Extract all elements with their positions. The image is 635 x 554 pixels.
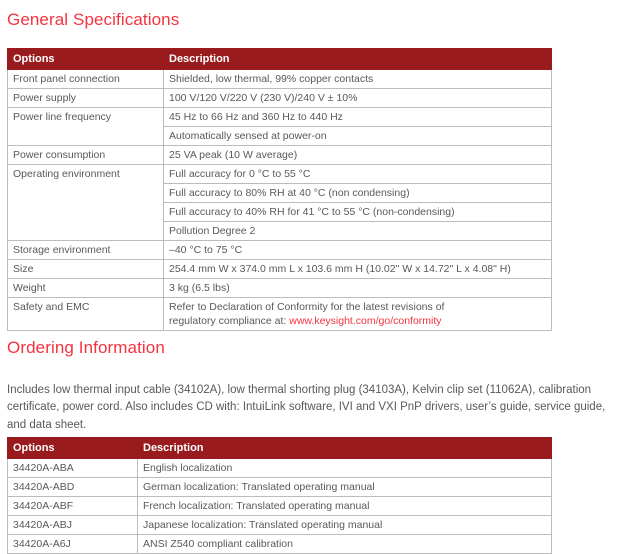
- table-header-row: Options Description: [8, 49, 552, 70]
- table-row: 34420A-ABJ Japanese localization: Transl…: [8, 516, 552, 535]
- column-header-options: Options: [8, 438, 138, 459]
- general-specifications-table: Options Description Front panel connecti…: [7, 48, 552, 331]
- cell-description: Pollution Degree 2: [164, 222, 552, 241]
- cell-description: 100 V/120 V/220 V (230 V)/240 V ± 10%: [164, 89, 552, 108]
- cell-option: Weight: [8, 279, 164, 298]
- cell-description: Full accuracy for 0 °C to 55 °C: [164, 165, 552, 184]
- table-row: 34420A-ABD German localization: Translat…: [8, 478, 552, 497]
- table-header: Options Description: [8, 49, 552, 70]
- ordering-information-paragraph: Includes low thermal input cable (34102A…: [7, 382, 622, 435]
- table-row: Safety and EMC Refer to Declaration of C…: [8, 298, 552, 331]
- table-row: Front panel connection Shielded, low the…: [8, 70, 552, 89]
- table-row: Storage environment –40 °C to 75 °C: [8, 241, 552, 260]
- cell-description: French localization: Translated operatin…: [138, 497, 552, 516]
- cell-option: Safety and EMC: [8, 298, 164, 331]
- table-row: Power consumption 25 VA peak (10 W avera…: [8, 146, 552, 165]
- cell-description: Automatically sensed at power-on: [164, 127, 552, 146]
- cell-description: Full accuracy to 40% RH for 41 °C to 55 …: [164, 203, 552, 222]
- cell-option: 34420A-ABA: [8, 459, 138, 478]
- cell-description: Full accuracy to 80% RH at 40 °C (non co…: [164, 184, 552, 203]
- cell-option: Front panel connection: [8, 70, 164, 89]
- conformity-line-1: Refer to Declaration of Conformity for t…: [169, 301, 444, 313]
- table-row: Power supply 100 V/120 V/220 V (230 V)/2…: [8, 89, 552, 108]
- cell-description: 3 kg (6.5 lbs): [164, 279, 552, 298]
- cell-description: Japanese localization: Translated operat…: [138, 516, 552, 535]
- conformity-url-link[interactable]: www.keysight.com/go/conformity: [289, 315, 441, 327]
- cell-description: 45 Hz to 66 Hz and 360 Hz to 440 Hz: [164, 108, 552, 127]
- cell-option: 34420A-ABD: [8, 478, 138, 497]
- table-row: Size 254.4 mm W x 374.0 mm L x 103.6 mm …: [8, 260, 552, 279]
- cell-option: Power line frequency: [8, 108, 164, 146]
- cell-description: 254.4 mm W x 374.0 mm L x 103.6 mm H (10…: [164, 260, 552, 279]
- cell-description: –40 °C to 75 °C: [164, 241, 552, 260]
- table-row: Weight 3 kg (6.5 lbs): [8, 279, 552, 298]
- cell-description: 25 VA peak (10 W average): [164, 146, 552, 165]
- page-title-general-specifications: General Specifications: [7, 10, 179, 30]
- table-body: Front panel connection Shielded, low the…: [8, 70, 552, 331]
- column-header-description: Description: [164, 49, 552, 70]
- cell-option: Storage environment: [8, 241, 164, 260]
- cell-description: German localization: Translated operatin…: [138, 478, 552, 497]
- table-row: Operating environment Full accuracy for …: [8, 165, 552, 184]
- page-title-ordering-information: Ordering Information: [7, 338, 165, 358]
- column-header-description: Description: [138, 438, 552, 459]
- conformity-line-2-prefix: regulatory compliance at:: [169, 315, 289, 327]
- cell-description: English localization: [138, 459, 552, 478]
- cell-option: Power consumption: [8, 146, 164, 165]
- ordering-options-table: Options Description 34420A-ABA English l…: [7, 437, 552, 554]
- table-row: Power line frequency 45 Hz to 66 Hz and …: [8, 108, 552, 127]
- table-row: 34420A-ABF French localization: Translat…: [8, 497, 552, 516]
- column-header-options: Options: [8, 49, 164, 70]
- table-header-row: Options Description: [8, 438, 552, 459]
- cell-option: Power supply: [8, 89, 164, 108]
- cell-option: 34420A-ABF: [8, 497, 138, 516]
- table-body: 34420A-ABA English localization 34420A-A…: [8, 459, 552, 554]
- table-header: Options Description: [8, 438, 552, 459]
- cell-option: Operating environment: [8, 165, 164, 241]
- table-row: 34420A-ABA English localization: [8, 459, 552, 478]
- cell-option: Size: [8, 260, 164, 279]
- cell-description: Shielded, low thermal, 99% copper contac…: [164, 70, 552, 89]
- datasheet-page: General Specifications Options Descripti…: [0, 0, 635, 551]
- cell-description-conformity: Refer to Declaration of Conformity for t…: [164, 298, 552, 331]
- cell-option: 34420A-ABJ: [8, 516, 138, 535]
